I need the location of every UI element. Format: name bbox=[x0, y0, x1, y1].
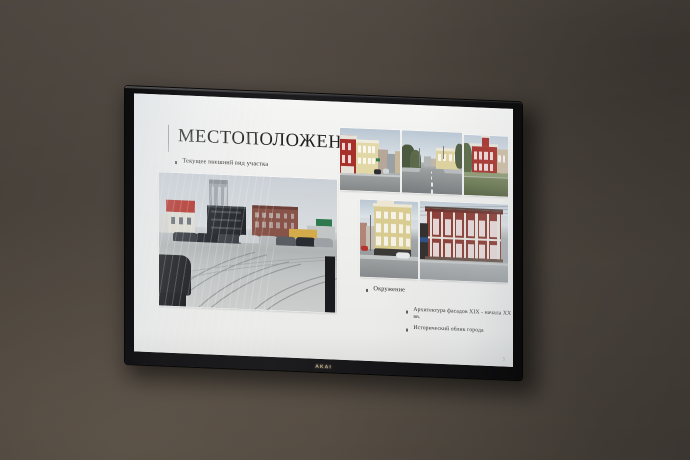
sub-bullet-list: Архитектура фасадов XIX - начала XX вв. … bbox=[406, 307, 512, 340]
photo-red-yellow-street bbox=[340, 128, 400, 192]
bullet-text: Текущее внешний вид участка bbox=[182, 157, 268, 169]
bullet-text: Окружение bbox=[373, 285, 405, 294]
photo-red-brick-merchant-house bbox=[420, 201, 508, 283]
bullet-marker-icon bbox=[175, 161, 177, 163]
presentation-slide: МЕСТОПОЛОЖЕНИЕ Текущее внешний вид участ… bbox=[134, 93, 513, 367]
bullet-current-site-view: Текущее внешний вид участка bbox=[175, 157, 268, 169]
bullet-marker-icon bbox=[406, 311, 408, 313]
photo-snowy-parking-lot bbox=[159, 172, 337, 312]
title-accent-rule bbox=[168, 125, 169, 152]
bullet-marker-icon bbox=[366, 289, 368, 291]
sub-bullet-historic-appearance: Исторический облик города bbox=[406, 325, 512, 337]
wall-mounted-television[interactable]: AKAI МЕСТОПОЛОЖЕНИЕ Текущее внешний вид … bbox=[125, 86, 522, 380]
photo-yellow-corner-building bbox=[360, 200, 418, 279]
tv-screen[interactable]: МЕСТОПОЛОЖЕНИЕ Текущее внешний вид участ… bbox=[134, 93, 513, 367]
bullet-marker-icon bbox=[406, 329, 408, 331]
tv-brand-logo: AKAI bbox=[315, 364, 332, 371]
sub-bullet-text: Архитектура фасадов XIX - начала XX вв. bbox=[413, 307, 512, 326]
bullet-surroundings: Окружение bbox=[366, 285, 405, 295]
photo-street-view bbox=[402, 130, 462, 194]
sub-bullet-facade-architecture: Архитектура фасадов XIX - начала XX вв. bbox=[406, 307, 512, 326]
sub-bullet-text: Исторический облик города bbox=[413, 325, 483, 335]
slide-number: 5 bbox=[503, 357, 505, 362]
photo-historic-house bbox=[464, 135, 508, 197]
